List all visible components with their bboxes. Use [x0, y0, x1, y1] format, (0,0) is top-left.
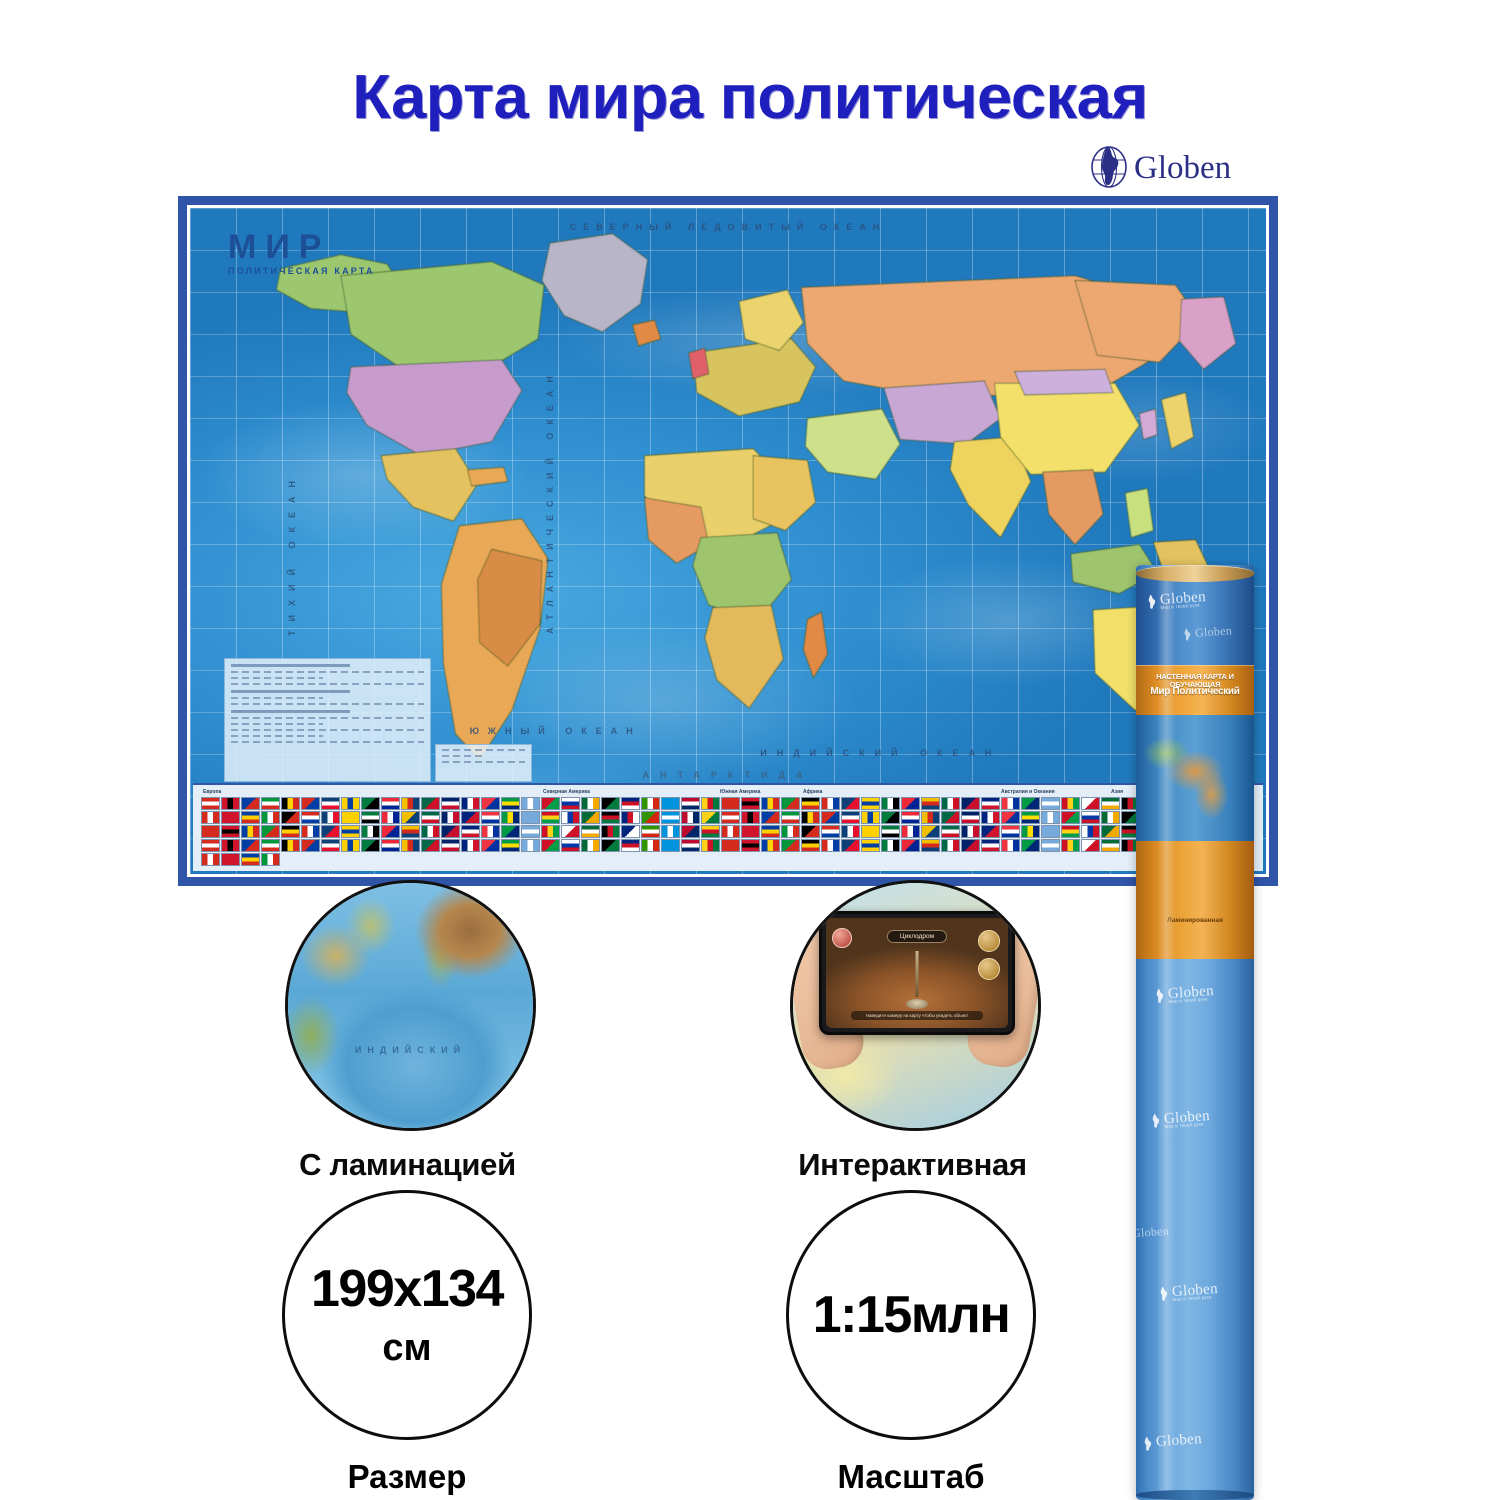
country-flag: [1021, 839, 1040, 852]
country-flag: [981, 825, 1000, 838]
country-flag: [781, 825, 800, 838]
country-flag: [201, 797, 220, 810]
country-flag: [201, 839, 220, 852]
country-flag: [1101, 797, 1120, 810]
country-flag: [481, 825, 500, 838]
country-flag: [961, 825, 980, 838]
feature-lamination-caption: С ламинацией: [285, 1147, 530, 1183]
tube-globen-text-2: Globen: [1195, 623, 1233, 641]
country-flag: [961, 839, 980, 852]
country-flag: [281, 825, 300, 838]
country-flag: [821, 811, 840, 824]
feature-lamination-image: ИНДИЙСКИЙ: [285, 880, 536, 1131]
country-flag: [961, 797, 980, 810]
country-flag: [621, 825, 640, 838]
tube-globen-logo-5: Globen: [1136, 1224, 1170, 1242]
country-flag: [521, 839, 540, 852]
country-flag: [381, 839, 400, 852]
country-flag: [501, 797, 520, 810]
country-flag: [1001, 839, 1020, 852]
country-flag: [421, 825, 440, 838]
country-flag: [621, 811, 640, 824]
country-flag: [1041, 825, 1060, 838]
tube-globen-logo-6: Globen Мир в твоей руке: [1157, 1281, 1218, 1302]
flags-section-s-america: Южная Америка: [720, 789, 760, 795]
spec-size-caption: Размер: [282, 1458, 532, 1496]
country-flag: [441, 839, 460, 852]
country-flag: [921, 797, 940, 810]
country-flag: [661, 839, 680, 852]
country-flag: [561, 797, 580, 810]
country-flag: [281, 797, 300, 810]
country-flag: [461, 839, 480, 852]
country-flag: [981, 797, 1000, 810]
country-flag: [1081, 839, 1100, 852]
country-flag: [721, 825, 740, 838]
continent-label-antarctica: АНТАРКТИДА: [642, 770, 813, 780]
country-flag: [661, 825, 680, 838]
country-flag: [941, 811, 960, 824]
country-flag: [601, 797, 620, 810]
country-flag: [321, 797, 340, 810]
ar-info-icon[interactable]: [978, 930, 1000, 952]
country-flag: [501, 839, 520, 852]
map-corner-title-sub: ПОЛИТИЧЕСКАЯ КАРТА: [228, 267, 375, 276]
feature-lamination: ИНДИЙСКИЙ С ламинацией: [285, 880, 530, 1183]
country-flag: [481, 839, 500, 852]
country-flag: [661, 811, 680, 824]
country-flag: [201, 811, 220, 824]
feature-interactive-caption: Интерактивная: [790, 1147, 1035, 1183]
flags-section-n-america: Северная Америка: [543, 789, 590, 795]
tube-label-line2: Мир Политический: [1142, 687, 1248, 698]
country-flag: [221, 797, 240, 810]
country-flag: [901, 825, 920, 838]
spec-size-value: 199x134: [311, 1263, 503, 1315]
country-flag: [201, 853, 220, 866]
country-flag: [661, 797, 680, 810]
country-flag: [1001, 811, 1020, 824]
country-flag: [941, 797, 960, 810]
country-flag: [321, 839, 340, 852]
country-flag: [441, 797, 460, 810]
country-flag: [581, 797, 600, 810]
country-flag: [241, 811, 260, 824]
country-flag: [881, 825, 900, 838]
country-flag: [981, 811, 1000, 824]
flag-grid: [201, 797, 1255, 869]
country-flag: [221, 853, 240, 866]
map-corner-title: МИР ПОЛИТИЧЕСКАЯ КАРТА: [228, 230, 375, 276]
country-flag: [781, 839, 800, 852]
country-flag: [461, 811, 480, 824]
packaging-tube: Globen Мир в твоей руке Globen НАСТЕННАЯ…: [1136, 565, 1254, 1500]
country-flag: [221, 839, 240, 852]
spec-scale-caption: Масштаб: [786, 1458, 1036, 1496]
country-flag: [821, 797, 840, 810]
country-flag: [361, 839, 380, 852]
country-flag: [1101, 825, 1120, 838]
country-flag: [641, 825, 660, 838]
country-flag: [621, 797, 640, 810]
country-flag: [381, 811, 400, 824]
country-flag: [401, 839, 420, 852]
country-flag: [1021, 825, 1040, 838]
ocean-label-arctic: СЕВЕРНЫЙ ЛЕДОВИТЫЙ ОКЕАН: [570, 222, 887, 232]
country-flag: [941, 825, 960, 838]
country-flag: [841, 811, 860, 824]
country-flag: [301, 811, 320, 824]
tube-label-line3: Ламинированная: [1144, 917, 1246, 924]
flags-section-europe: Европа: [203, 789, 221, 795]
map-corner-title-main: МИР: [228, 230, 375, 264]
country-flag: [401, 825, 420, 838]
map-poster-inner: МИР ПОЛИТИЧЕСКАЯ КАРТА СЕВЕРНЫЙ ЛЕДОВИТЫ…: [187, 205, 1269, 877]
country-flag: [801, 825, 820, 838]
ocean-label-southern: ЮЖНЫЙ ОКЕАН: [470, 726, 642, 736]
country-flag: [861, 811, 880, 824]
country-flag: [261, 839, 280, 852]
country-flag: [541, 811, 560, 824]
country-flag: [541, 839, 560, 852]
country-flag: [1061, 839, 1080, 852]
country-flag: [781, 797, 800, 810]
country-flag: [841, 825, 860, 838]
ar-object-label: Циклодром: [887, 930, 947, 943]
tube-globen-logo-3: Globen Мир в твоей руке: [1153, 983, 1214, 1004]
tube-globen-logo-4: Globen Мир в твоей руке: [1149, 1108, 1210, 1129]
country-flag: [461, 825, 480, 838]
country-flag: [301, 825, 320, 838]
country-flag: [561, 825, 580, 838]
country-flag: [341, 797, 360, 810]
tube-bottom-cap: [1136, 1490, 1254, 1500]
country-flag: [681, 797, 700, 810]
ar-audio-icon[interactable]: [978, 958, 1000, 980]
spec-size: 199x134 см Размер: [282, 1190, 532, 1496]
country-flag: [1041, 811, 1060, 824]
country-flag: [601, 825, 620, 838]
country-flag: [921, 811, 940, 824]
country-flag: [641, 839, 660, 852]
spec-scale-circle: 1:15млн: [786, 1190, 1036, 1440]
country-flag: [761, 811, 780, 824]
country-flag: [321, 811, 340, 824]
country-flag: [601, 811, 620, 824]
country-flag: [301, 797, 320, 810]
country-flag: [241, 825, 260, 838]
country-flag: [781, 811, 800, 824]
flags-section-asia: Азия: [1111, 789, 1123, 795]
flags-section-africa: Африка: [803, 789, 822, 795]
physical-map-closeup: [286, 881, 535, 1130]
country-flag: [421, 811, 440, 824]
feature-interactive: Циклодром Наведите камеру на карту чтобы…: [790, 880, 1035, 1183]
country-flag: [881, 839, 900, 852]
country-flag: [721, 797, 740, 810]
country-flag: [941, 839, 960, 852]
country-flag: [1021, 811, 1040, 824]
country-flag: [581, 839, 600, 852]
country-flag: [741, 825, 760, 838]
country-flag: [1021, 797, 1040, 810]
country-flag: [521, 825, 540, 838]
country-flag: [521, 797, 540, 810]
country-flag: [441, 825, 460, 838]
country-flag: [901, 811, 920, 824]
tube-top-cap: [1136, 565, 1254, 582]
ocean-label-pacific: ТИХИЙ ОКЕАН: [287, 472, 297, 636]
country-flag: [801, 811, 820, 824]
country-flag: [401, 797, 420, 810]
country-flag: [461, 797, 480, 810]
country-flag: [481, 811, 500, 824]
country-flag: [501, 825, 520, 838]
country-flag: [741, 839, 760, 852]
phone-screen: Циклодром Наведите камеру на карту чтобы…: [826, 918, 1008, 1028]
country-flag: [341, 811, 360, 824]
country-flag: [381, 797, 400, 810]
spec-size-circle: 199x134 см: [282, 1190, 532, 1440]
country-flag: [861, 825, 880, 838]
country-flag: [641, 811, 660, 824]
country-flag: [1061, 811, 1080, 824]
country-flag: [1061, 797, 1080, 810]
map-legend-secondary: [435, 744, 532, 782]
country-flag: [421, 797, 440, 810]
country-flag: [801, 839, 820, 852]
country-flag: [241, 797, 260, 810]
country-flag: [761, 839, 780, 852]
country-flag: [561, 839, 580, 852]
tube-body: Globen Мир в твоей руке Globen НАСТЕННАЯ…: [1136, 565, 1254, 1500]
country-flag: [801, 797, 820, 810]
country-flag: [861, 797, 880, 810]
ar-tower-base: [906, 999, 928, 1009]
country-flag: [261, 811, 280, 824]
flags-section-oceania: Австралия и Океания: [1001, 789, 1055, 795]
country-flag: [381, 825, 400, 838]
country-flag: [981, 839, 1000, 852]
globe-icon: [1090, 143, 1130, 194]
country-flag: [441, 811, 460, 824]
country-flag: [881, 797, 900, 810]
country-flag: [541, 797, 560, 810]
country-flag: [201, 825, 220, 838]
country-flag: [481, 797, 500, 810]
spec-scale-value: 1:15млн: [813, 1289, 1009, 1341]
country-flag: [1081, 811, 1100, 824]
country-flag: [281, 811, 300, 824]
country-flag: [921, 825, 940, 838]
country-flag: [361, 811, 380, 824]
ocean-label-indian: ИНДИЙСКИЙ ОКЕАН: [760, 748, 1001, 758]
country-flag: [961, 811, 980, 824]
country-flag: [221, 811, 240, 824]
spec-size-unit: см: [382, 1329, 431, 1367]
country-flag: [841, 839, 860, 852]
country-flag: [1061, 825, 1080, 838]
country-flag: [701, 839, 720, 852]
country-flag: [901, 797, 920, 810]
ocean-label-atlantic: АТЛАНТИЧЕСКИЙ ОКЕАН: [545, 368, 555, 634]
country-flag: [1001, 797, 1020, 810]
country-flag: [841, 797, 860, 810]
country-flag: [241, 853, 260, 866]
country-flag: [601, 839, 620, 852]
country-flag: [261, 853, 280, 866]
smartphone: Циклодром Наведите камеру на карту чтобы…: [819, 911, 1015, 1035]
country-flag: [361, 825, 380, 838]
country-flag: [741, 811, 760, 824]
country-flag: [1101, 811, 1120, 824]
country-flag: [321, 825, 340, 838]
country-flag: [221, 825, 240, 838]
country-flag: [581, 811, 600, 824]
feature-interactive-image: Циклодром Наведите камеру на карту чтобы…: [790, 880, 1041, 1131]
country-flag: [281, 839, 300, 852]
country-flag: [1081, 825, 1100, 838]
country-flag: [541, 825, 560, 838]
country-flag: [1041, 839, 1060, 852]
country-flag: [761, 797, 780, 810]
country-flag: [761, 825, 780, 838]
country-flag: [401, 811, 420, 824]
country-flag: [721, 811, 740, 824]
tube-band-map-thumbnail: [1136, 715, 1254, 843]
ar-tower-model: [916, 951, 919, 997]
ar-back-icon[interactable]: [832, 928, 852, 948]
country-flag: [881, 811, 900, 824]
country-flag: [641, 797, 660, 810]
ar-subtitle-text: Наведите камеру на карту чтобы увидеть о…: [851, 1011, 982, 1020]
page-title: Карта мира политическая: [0, 62, 1500, 133]
country-flag: [361, 797, 380, 810]
map-poster: МИР ПОЛИТИЧЕСКАЯ КАРТА СЕВЕРНЫЙ ЛЕДОВИТЫ…: [178, 196, 1278, 886]
country-flag: [1101, 839, 1120, 852]
country-flag: [701, 811, 720, 824]
country-flag: [921, 839, 940, 852]
ar-photo: Циклодром Наведите камеру на карту чтобы…: [791, 881, 1040, 1130]
map-legend: [224, 658, 431, 782]
country-flag: [241, 839, 260, 852]
country-flag: [701, 825, 720, 838]
country-flag: [1041, 797, 1060, 810]
spec-scale: 1:15млн Масштаб: [786, 1190, 1036, 1496]
country-flag: [301, 839, 320, 852]
tube-band-orange-lower: [1136, 841, 1254, 959]
country-flag: [421, 839, 440, 852]
country-flag: [341, 825, 360, 838]
country-flag: [821, 825, 840, 838]
country-flag: [681, 839, 700, 852]
flags-strip: Европа Северная Америка Южная Америка Аф…: [193, 783, 1263, 871]
country-flag: [1001, 825, 1020, 838]
country-flag: [1081, 797, 1100, 810]
country-flag: [681, 825, 700, 838]
country-flag: [521, 811, 540, 824]
world-map-image: МИР ПОЛИТИЧЕСКАЯ КАРТА СЕВЕРНЫЙ ЛЕДОВИТЫ…: [190, 208, 1266, 874]
tube-globen-logo-7: Globen: [1141, 1431, 1202, 1452]
country-flag: [341, 839, 360, 852]
country-flag: [701, 797, 720, 810]
country-flag: [621, 839, 640, 852]
country-flag: [721, 839, 740, 852]
brand-name: Globen: [1134, 150, 1231, 187]
country-flag: [821, 839, 840, 852]
tube-globen-text-7: Globen: [1155, 1431, 1202, 1451]
brand-logo: Globen: [1090, 142, 1250, 194]
tube-globen-logo-1: Globen Мир в твоей руке: [1145, 589, 1206, 610]
country-flag: [561, 811, 580, 824]
tube-globen-text-5: Globen: [1136, 1224, 1170, 1242]
country-flag: [261, 797, 280, 810]
country-flag: [901, 839, 920, 852]
country-flag: [741, 797, 760, 810]
country-flag: [581, 825, 600, 838]
country-flag: [681, 811, 700, 824]
country-flag: [261, 825, 280, 838]
country-flag: [861, 839, 880, 852]
physical-map-ocean-label: ИНДИЙСКИЙ: [288, 1045, 533, 1055]
country-flag: [501, 811, 520, 824]
